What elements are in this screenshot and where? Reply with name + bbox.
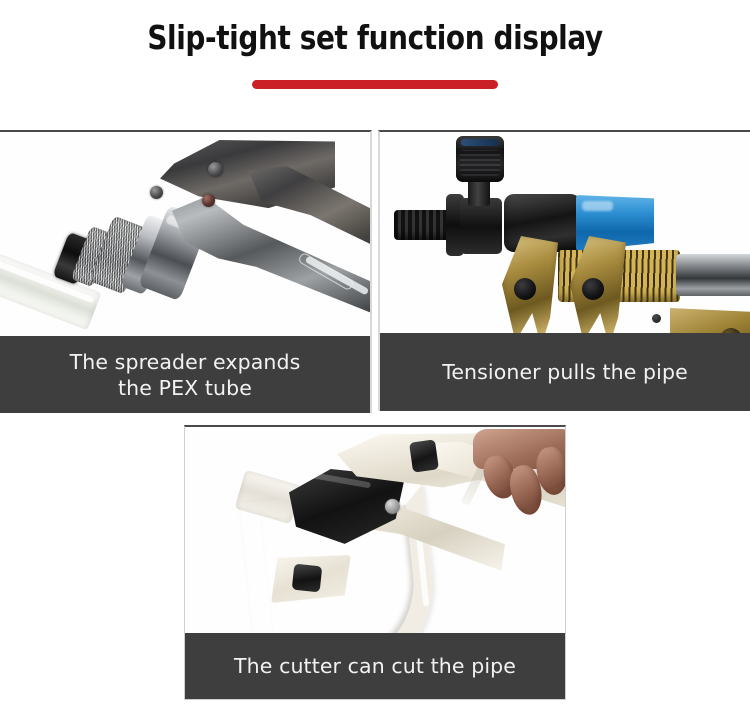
fitting-body-shape — [460, 198, 502, 254]
title-underline-accent — [252, 80, 498, 89]
caption-line: Tensioner pulls the pipe — [442, 359, 688, 385]
rivet-shape — [150, 186, 163, 199]
pex-barb-fitting-shape — [394, 210, 452, 240]
caption-line: The cutter can cut the pipe — [234, 653, 516, 679]
riser-cap-shape — [456, 136, 504, 182]
cutter-top-button-shape — [409, 439, 439, 472]
chrome-shaft-shape — [676, 254, 750, 296]
panel-tensioner: Tensioner pulls the pipe — [378, 130, 750, 411]
cutter-screw-shape — [385, 499, 400, 514]
panel-spreader: The spreader expands the PEX tube — [0, 130, 372, 413]
pivot-pin-shape — [514, 278, 536, 300]
cutter-release-button-shape — [292, 564, 323, 593]
spreader-photo — [0, 132, 370, 338]
rivet-shape — [202, 194, 215, 207]
spreader-illustration — [0, 132, 370, 338]
product-feature-board: Slip-tight set function display — [0, 0, 750, 717]
tensioner-photo — [380, 132, 750, 335]
spreader-caption: The spreader expands the PEX tube — [0, 336, 370, 413]
panel-cutter: The cutter can cut the pipe — [184, 425, 566, 700]
pivot-pin-shape — [652, 314, 661, 323]
tensioner-caption: Tensioner pulls the pipe — [380, 333, 750, 411]
cutter-illustration — [185, 427, 565, 636]
caption-line: The spreader expands — [70, 350, 301, 374]
header: Slip-tight set function display — [0, 0, 750, 118]
caption-line: the PEX tube — [118, 376, 252, 400]
page-title: Slip-tight set function display — [23, 20, 728, 56]
rivet-shape — [208, 162, 223, 177]
tensioner-illustration — [380, 132, 750, 335]
cutter-photo — [185, 427, 565, 636]
pivot-pin-shape — [582, 278, 604, 300]
cutter-caption: The cutter can cut the pipe — [185, 633, 565, 699]
